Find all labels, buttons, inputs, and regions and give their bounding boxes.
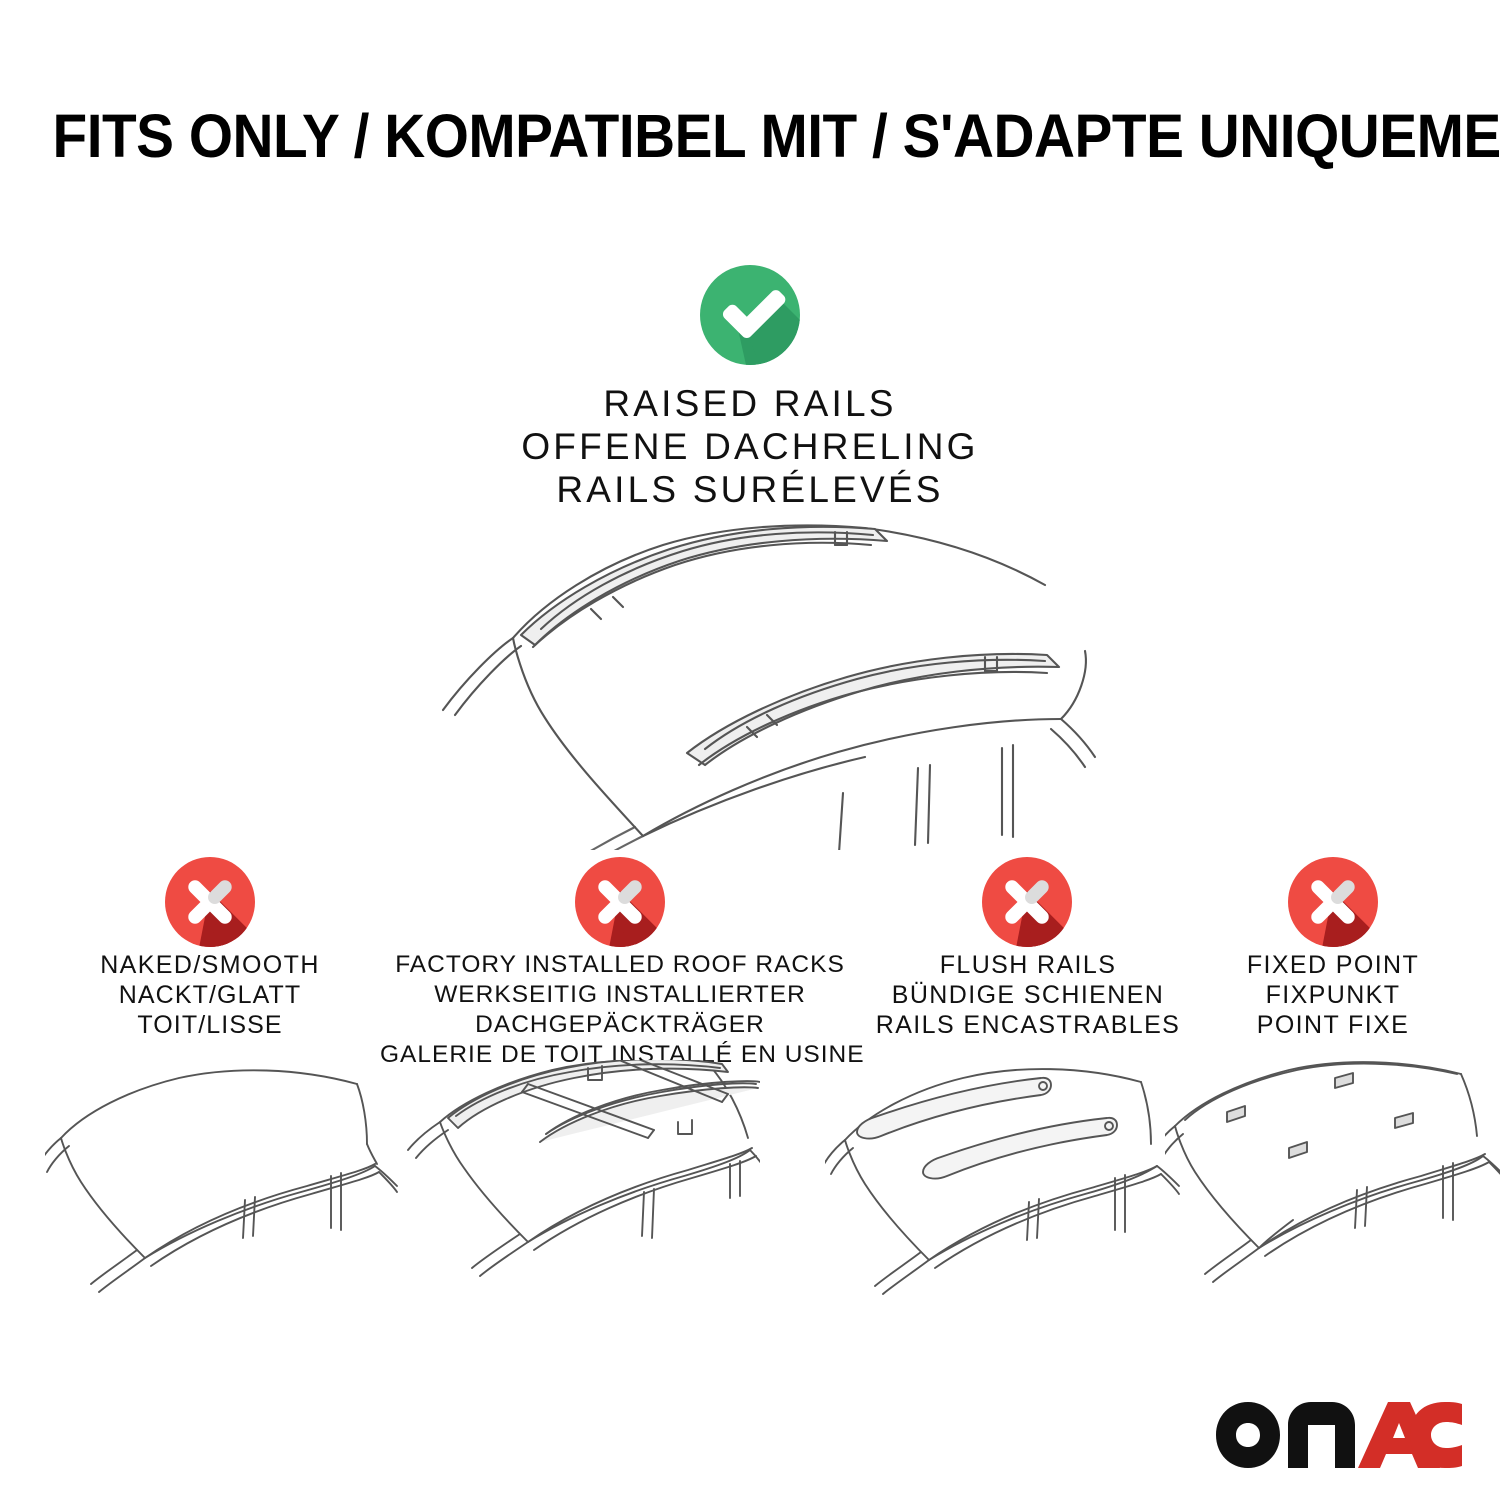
column-label-line-2: WERKSEITIG INSTALLIERTER xyxy=(380,980,860,1010)
column-label-line-1: FLUSH RAILS xyxy=(830,950,1226,980)
incompatible-column-flush-rails: FLUSH RAILS BÜNDIGE SCHIENEN RAILS ENCAS… xyxy=(830,940,1226,1040)
omac-logo-mark xyxy=(1212,1396,1464,1468)
fixed-point-drawing xyxy=(1165,1060,1500,1295)
logo-letter-o xyxy=(1216,1402,1280,1468)
column-label-line-1: FIXED POINT xyxy=(1180,950,1486,980)
column-label-line-1: FACTORY INSTALLED ROOF RACKS xyxy=(380,950,860,980)
column-label-line-2: BÜNDIGE SCHIENEN xyxy=(830,980,1226,1010)
fitment-infographic: FITS ONLY / KOMPATIBEL MIT / S'ADAPTE UN… xyxy=(0,0,1500,1500)
x-circle-icon xyxy=(1288,857,1378,947)
column-label-line-3: DACHGEPÄCKTRÄGER xyxy=(380,1010,860,1040)
column-label: FLUSH RAILS BÜNDIGE SCHIENEN RAILS ENCAS… xyxy=(830,950,1226,1040)
incompatible-column-factory-roof-racks: FACTORY INSTALLED ROOF RACKS WERKSEITIG … xyxy=(380,940,860,1070)
x-glyph xyxy=(575,857,665,947)
car-roof-fixed-point-illustration xyxy=(1165,1060,1500,1295)
incompatible-column-fixed-point: FIXED POINT FIXPUNKT POINT FIXE xyxy=(1180,940,1486,1040)
x-glyph xyxy=(1288,857,1378,947)
column-label-line-3: TOIT/LISSE xyxy=(30,1010,390,1040)
naked-roof-drawing xyxy=(45,1060,405,1295)
compatible-label-line-2: OFFENE DACHRELING xyxy=(0,425,1500,468)
column-label-line-2: NACKT/GLATT xyxy=(30,980,390,1010)
x-circle-icon xyxy=(165,857,255,947)
car-roof-naked-smooth-illustration xyxy=(45,1060,405,1295)
column-label-line-3: POINT FIXE xyxy=(1180,1010,1486,1040)
car-roof-factory-racks-illustration xyxy=(400,1060,760,1295)
car-roof-raised-rails-illustration xyxy=(395,505,1115,850)
incompatible-column-naked-smooth: NAKED/SMOOTH NACKT/GLATT TOIT/LISSE xyxy=(30,940,390,1040)
omac-logo: OMAC xyxy=(1212,1396,1464,1468)
car-roof-flush-rails-illustration xyxy=(825,1060,1185,1295)
column-label-line-2: FIXPUNKT xyxy=(1180,980,1486,1010)
column-label-line-1: NAKED/SMOOTH xyxy=(30,950,390,980)
x-circle-icon xyxy=(575,857,665,947)
x-glyph xyxy=(165,857,255,947)
check-circle-icon xyxy=(700,265,800,365)
factory-racks-drawing xyxy=(400,1060,760,1295)
logo-letter-m xyxy=(1288,1402,1355,1468)
column-label: FACTORY INSTALLED ROOF RACKS WERKSEITIG … xyxy=(380,950,860,1070)
x-circle-icon xyxy=(982,857,1072,947)
flush-rails-drawing xyxy=(825,1060,1185,1295)
x-glyph xyxy=(982,857,1072,947)
column-label-line-3: RAILS ENCASTRABLES xyxy=(830,1010,1226,1040)
raised-rails-drawing xyxy=(395,505,1115,850)
page-title: FITS ONLY / KOMPATIBEL MIT / S'ADAPTE UN… xyxy=(53,104,1448,168)
column-label: NAKED/SMOOTH NACKT/GLATT TOIT/LISSE xyxy=(30,950,390,1040)
compatible-label-group: RAISED RAILS OFFENE DACHRELING RAILS SUR… xyxy=(0,382,1500,511)
column-label: FIXED POINT FIXPUNKT POINT FIXE xyxy=(1180,950,1486,1040)
check-glyph xyxy=(700,265,800,365)
compatible-label-line-1: RAISED RAILS xyxy=(0,382,1500,425)
